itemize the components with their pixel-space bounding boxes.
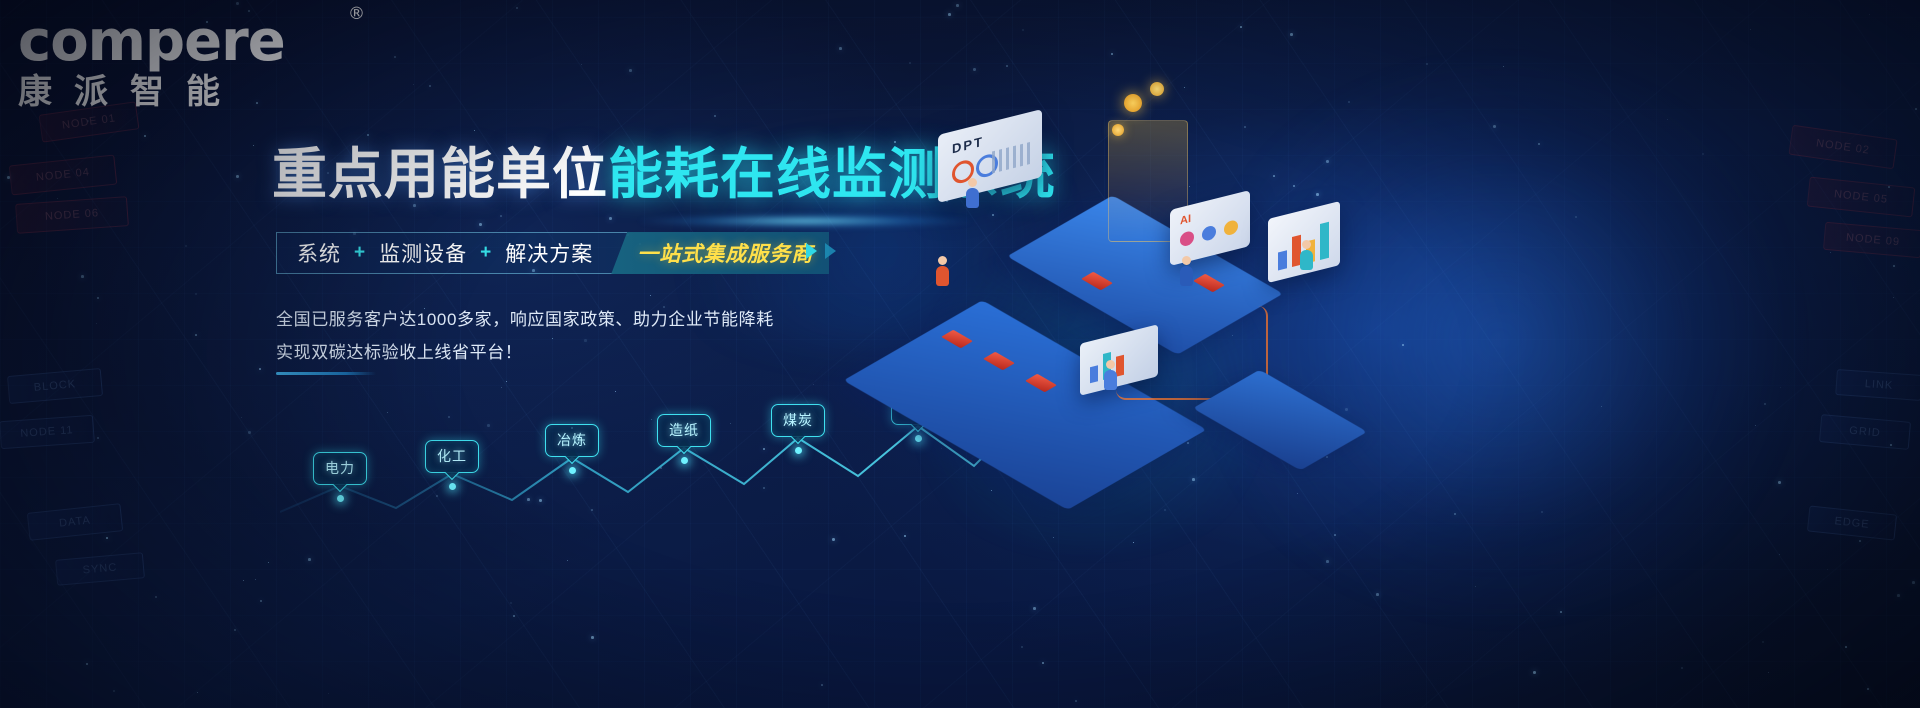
- background-vignette: [0, 0, 1920, 708]
- promotional-banner: NODE 01NODE 04NODE 06BLOCKNODE 11DATASYN…: [0, 0, 1920, 708]
